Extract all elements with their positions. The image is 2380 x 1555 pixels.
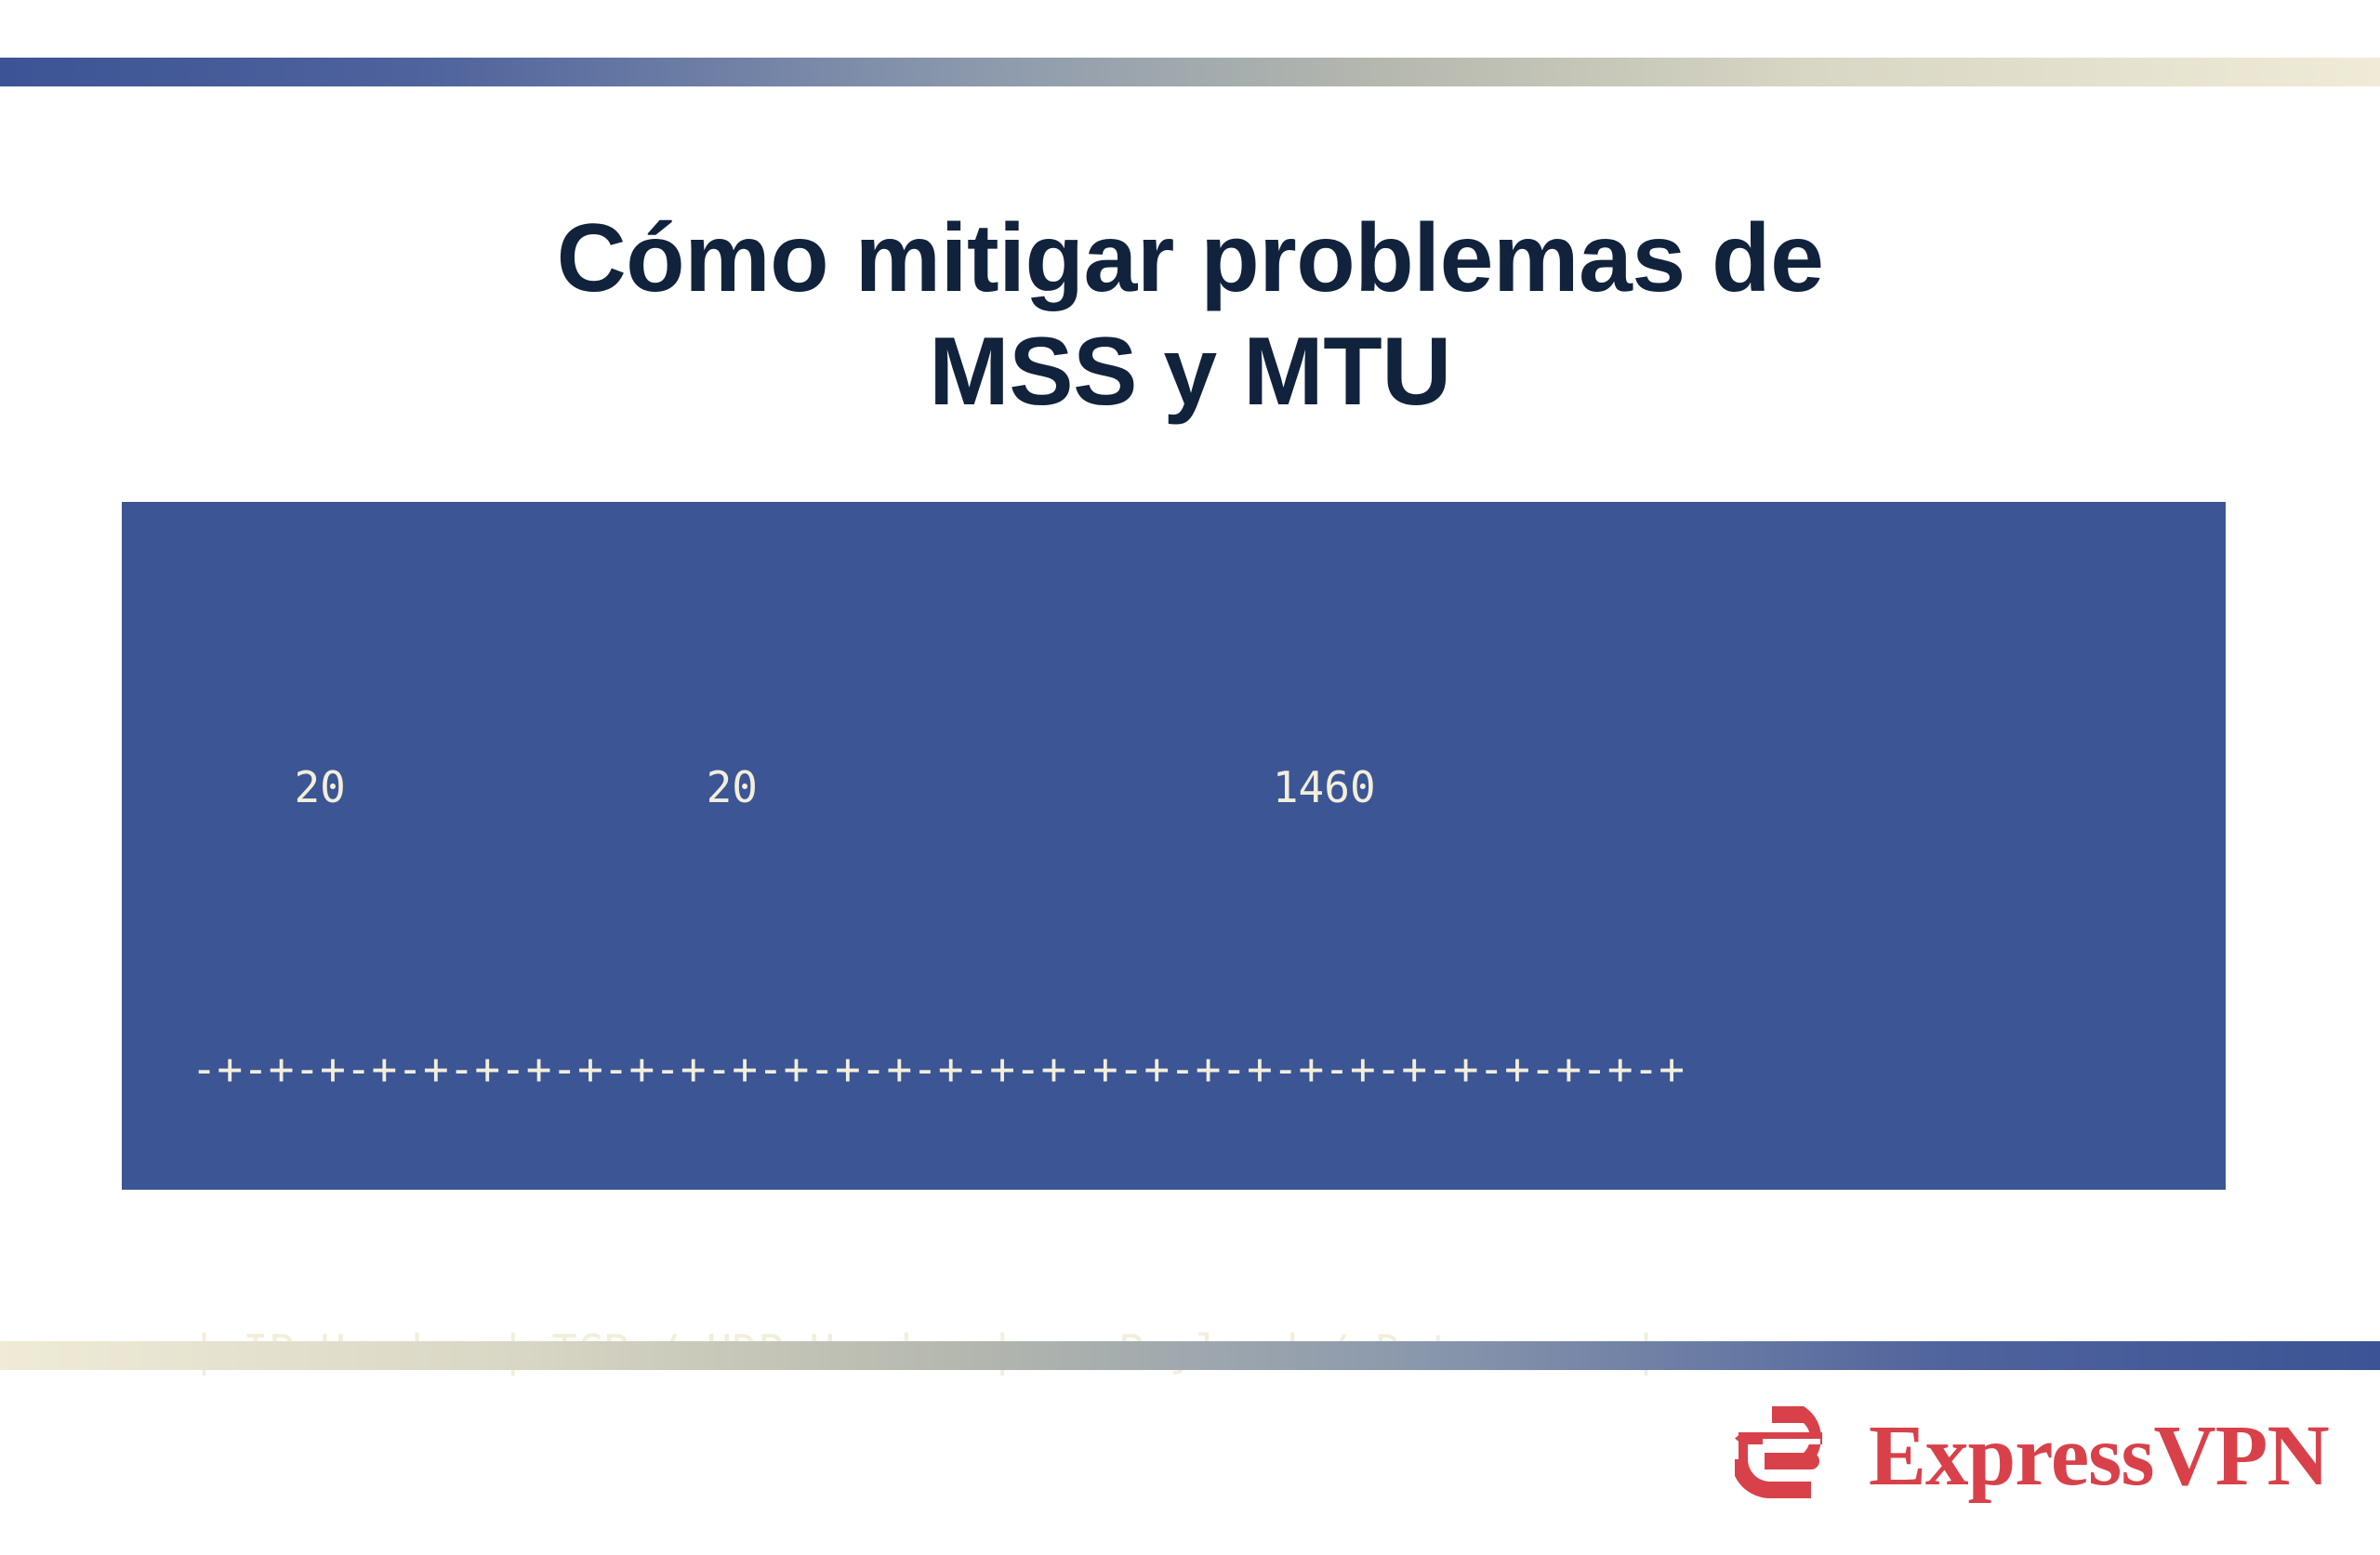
top-gradient-rule: [0, 58, 2380, 86]
expressvpn-logo: ExpressVPN: [1735, 1403, 2329, 1508]
page-title: Cómo mitigar problemas de MSS y MTU: [0, 203, 2380, 428]
packet-diagram-panel: 20 20 1460 -+-+-+-+-+-+-+-+-+-+-+-+-+-+-…: [122, 502, 2226, 1190]
ascii-line-top-border: -+-+-+-+-+-+-+-+-+-+-+-+-+-+-+-+-+-+-+-+…: [165, 1022, 2226, 1116]
ascii-line-byte-labels: 20 20 1460: [165, 741, 2226, 835]
expressvpn-e-icon: [1735, 1403, 1844, 1508]
expressvpn-wordmark: ExpressVPN: [1869, 1413, 2329, 1499]
slide-canvas: Cómo mitigar problemas de MSS y MTU 20 2…: [0, 0, 2380, 1555]
bottom-gradient-rule: [0, 1341, 2380, 1370]
